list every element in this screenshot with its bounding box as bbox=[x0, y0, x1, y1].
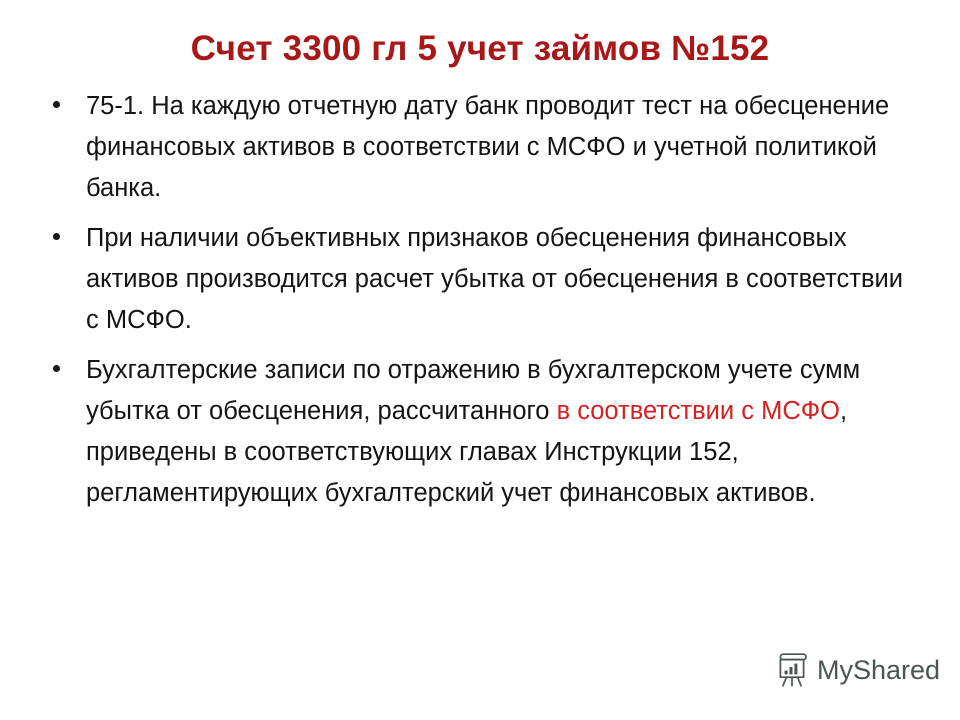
page-title: Счет 3300 гл 5 учет займов №152 bbox=[0, 26, 960, 72]
list-item: 75-1. На каждую отчетную дату банк прово… bbox=[44, 86, 916, 209]
slide-canvas: Счет 3300 гл 5 учет займов №152 75-1. На… bbox=[0, 0, 960, 720]
bullet-point-icon bbox=[53, 233, 60, 240]
flipchart-bar-chart-icon bbox=[776, 652, 810, 688]
bullet-point-icon bbox=[53, 365, 60, 372]
bullet-text: 75-1. На каждую отчетную дату банк прово… bbox=[86, 92, 889, 202]
list-item: При наличии объективных признаков обесце… bbox=[44, 218, 916, 341]
bullet-point-icon bbox=[53, 101, 60, 108]
list-item: Бухгалтерские записи по отражению в бухг… bbox=[44, 350, 916, 514]
myshared-label: MyShared bbox=[817, 655, 940, 685]
myshared-watermark: MyShared bbox=[776, 652, 940, 688]
bullet-text: При наличии объективных признаков обесце… bbox=[86, 224, 903, 334]
bullet-list: 75-1. На каждую отчетную дату банк прово… bbox=[44, 86, 916, 514]
highlighted-text: в соответствии с МСФО bbox=[557, 397, 840, 425]
